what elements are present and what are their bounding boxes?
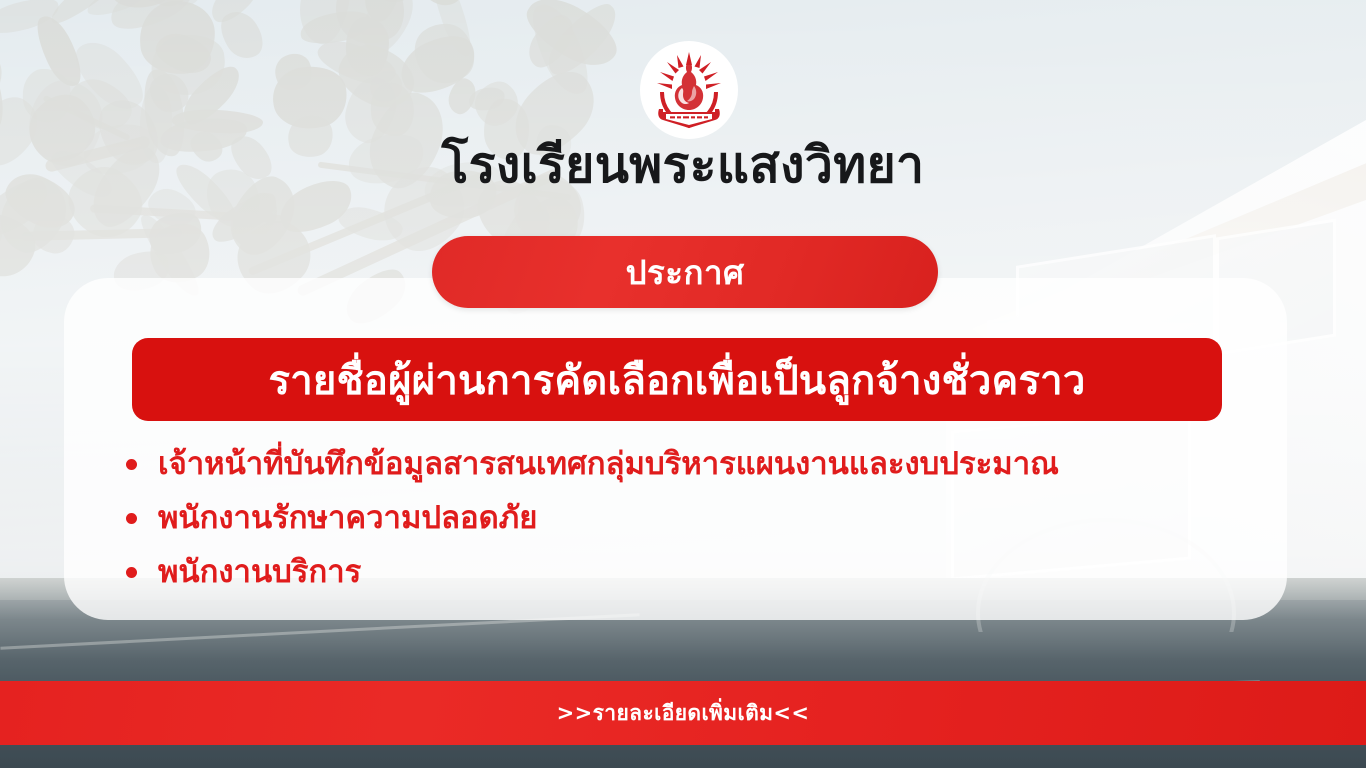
bullet-dot-icon: [126, 567, 137, 578]
position-list: เจ้าหน้าที่บันทึกข้อมูลสารสนเทศกลุ่มบริห…: [116, 440, 1296, 602]
announcement-badge: ประกาศ: [432, 236, 938, 308]
bullet-dot-icon: [126, 513, 137, 524]
headline-banner: รายชื่อผู้ผ่านการคัดเลือกเพื่อเป็นลูกจ้า…: [132, 338, 1222, 421]
bullet-dot-icon: [126, 459, 137, 470]
position-label: พนักงานบริการ: [158, 554, 361, 590]
more-details-bar[interactable]: >>รายละเอียดเพิ่มเติม<<: [0, 681, 1366, 745]
position-list-item: พนักงานบริการ: [116, 548, 1296, 596]
position-list-item: พนักงานรักษาความปลอดภัย: [116, 494, 1296, 542]
headline-text: รายชื่อผู้ผ่านการคัดเลือกเพื่อเป็นลูกจ้า…: [269, 348, 1086, 412]
school-name-title: โรงเรียนพระแสงวิทยา: [0, 138, 1366, 193]
announcement-poster: โรงเรียนพระแสงวิทยา ประกาศ รายชื่อผู้ผ่า…: [0, 0, 1366, 768]
school-emblem-icon: [640, 41, 738, 139]
position-label: พนักงานรักษาความปลอดภัย: [158, 500, 537, 536]
position-label: เจ้าหน้าที่บันทึกข้อมูลสารสนเทศกลุ่มบริห…: [158, 446, 1059, 482]
announcement-badge-label: ประกาศ: [626, 246, 745, 299]
more-details-link[interactable]: >>รายละเอียดเพิ่มเติม<<: [557, 697, 810, 730]
position-list-item: เจ้าหน้าที่บันทึกข้อมูลสารสนเทศกลุ่มบริห…: [116, 440, 1296, 488]
